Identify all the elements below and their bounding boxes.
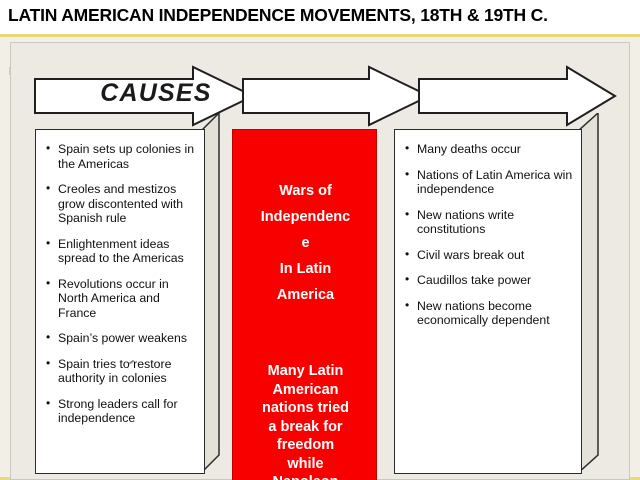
list-item: New nations write constitutions <box>405 208 575 237</box>
list-item: Strong leaders call for independence <box>46 397 198 426</box>
list-item: Creoles and mestizos grow discontented w… <box>46 182 198 226</box>
slide-canvas: LATIN AMERICAN INDEPENDENCE MOVEMENTS, 1… <box>0 34 640 480</box>
center-title-line: America <box>239 282 372 308</box>
slide-page: LATIN AMERICAN INDEPENDENCE MOVEMENTS, 1… <box>0 0 640 480</box>
center-title-line: Independenc <box>239 204 372 230</box>
center-body-line: Many Latin <box>239 362 372 381</box>
list-item: New nations become economically dependen… <box>405 299 575 328</box>
center-column-title: Wars of Independenc e In Latin America <box>239 178 372 308</box>
list-item: Many deaths occur <box>405 142 575 157</box>
causes-list: Spain sets up colonies in the Americas C… <box>46 142 198 437</box>
list-item: Civil wars break out <box>405 248 575 263</box>
page-title: LATIN AMERICAN INDEPENDENCE MOVEMENTS, 1… <box>8 5 548 26</box>
center-body-line: American <box>239 381 372 400</box>
causes-column: Spain sets up colonies in the Americas C… <box>35 129 205 474</box>
list-item: Spain’s power weakens <box>46 331 198 346</box>
center-title-line: e <box>239 230 372 256</box>
center-title-line: In Latin <box>239 256 372 282</box>
slide-inner-frame: CAUSES EFFECTS <box>10 42 630 480</box>
list-item: Revolutions occur in North America and F… <box>46 277 198 321</box>
center-column-body: Many Latin American nations tried a brea… <box>239 362 372 480</box>
list-item: Spain tries to restore authority in colo… <box>46 357 198 386</box>
center-body-line: nations tried <box>239 399 372 418</box>
center-body-line: while <box>239 455 372 474</box>
center-body-line: a break for <box>239 418 372 437</box>
effects-list: Many deaths occur Nations of Latin Ameri… <box>405 142 575 339</box>
center-body-line: freedom <box>239 436 372 455</box>
center-arrow-banner <box>241 65 431 127</box>
center-title-line: Wars of <box>239 178 372 204</box>
title-bar: LATIN AMERICAN INDEPENDENCE MOVEMENTS, 1… <box>0 0 640 34</box>
list-item: Spain sets up colonies in the Americas <box>46 142 198 171</box>
list-item: Enlightenment ideas spread to the Americ… <box>46 237 198 266</box>
list-item: Nations of Latin America win independenc… <box>405 168 575 197</box>
list-item: Caudillos take power <box>405 273 575 288</box>
center-red-column: Wars of Independenc e In Latin America M… <box>232 129 377 480</box>
center-body-line: Napoleon <box>239 473 372 480</box>
causes-label: CAUSES <box>81 79 231 108</box>
effects-column: Many deaths occur Nations of Latin Ameri… <box>394 129 582 474</box>
